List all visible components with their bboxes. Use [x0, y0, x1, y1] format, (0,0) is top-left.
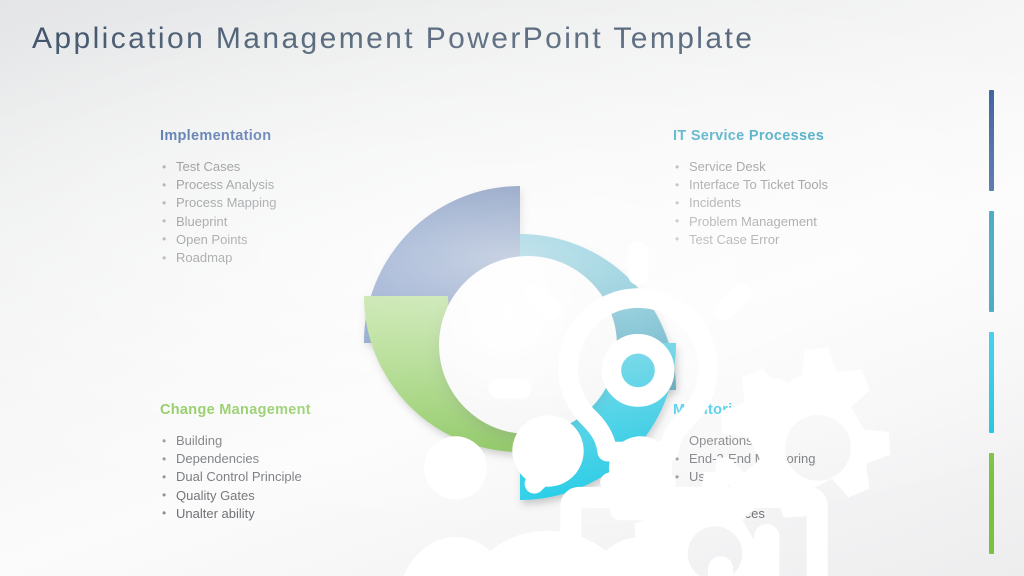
edge-accent-bar-teal [989, 211, 994, 312]
list-item: Roadmap [160, 249, 276, 267]
heading-implementation: Implementation [160, 128, 276, 144]
list-implementation: Test Cases Process Analysis Process Mapp… [160, 158, 276, 267]
list-change-management: Building Dependencies Dual Control Princ… [160, 432, 311, 523]
list-item: Interface To Ticket Tools [673, 176, 828, 194]
people-icon [380, 360, 716, 576]
text-block-implementation: Implementation Test Cases Process Analys… [160, 128, 276, 267]
heading-it-service-processes: IT Service Processes [673, 128, 828, 144]
slide-canvas: Application Management PowerPoint Templa… [0, 0, 1024, 576]
heading-change-management: Change Management [160, 402, 311, 418]
list-item: Open Points [160, 231, 276, 249]
pinwheel-diagram [352, 168, 688, 518]
list-item: Incidents [673, 194, 828, 212]
list-item: Test Cases [160, 158, 276, 176]
list-item: Blueprint [160, 213, 276, 231]
list-item: Quality Gates [160, 487, 311, 505]
list-item: Building [160, 432, 311, 450]
list-item: Process Analysis [160, 176, 276, 194]
text-block-change-management: Change Management Building Dependencies … [160, 402, 311, 523]
list-item: Service Desk [673, 158, 828, 176]
list-item: Dual Control Principle [160, 468, 311, 486]
edge-accent-bar-green [989, 453, 994, 554]
page-title: Application Management PowerPoint Templa… [32, 22, 754, 56]
edge-accent-bar-blue [989, 90, 994, 191]
edge-accent-bar-cyan [989, 332, 994, 433]
list-item: Unalter ability [160, 505, 311, 523]
list-item: Process Mapping [160, 194, 276, 212]
list-item: Dependencies [160, 450, 311, 468]
